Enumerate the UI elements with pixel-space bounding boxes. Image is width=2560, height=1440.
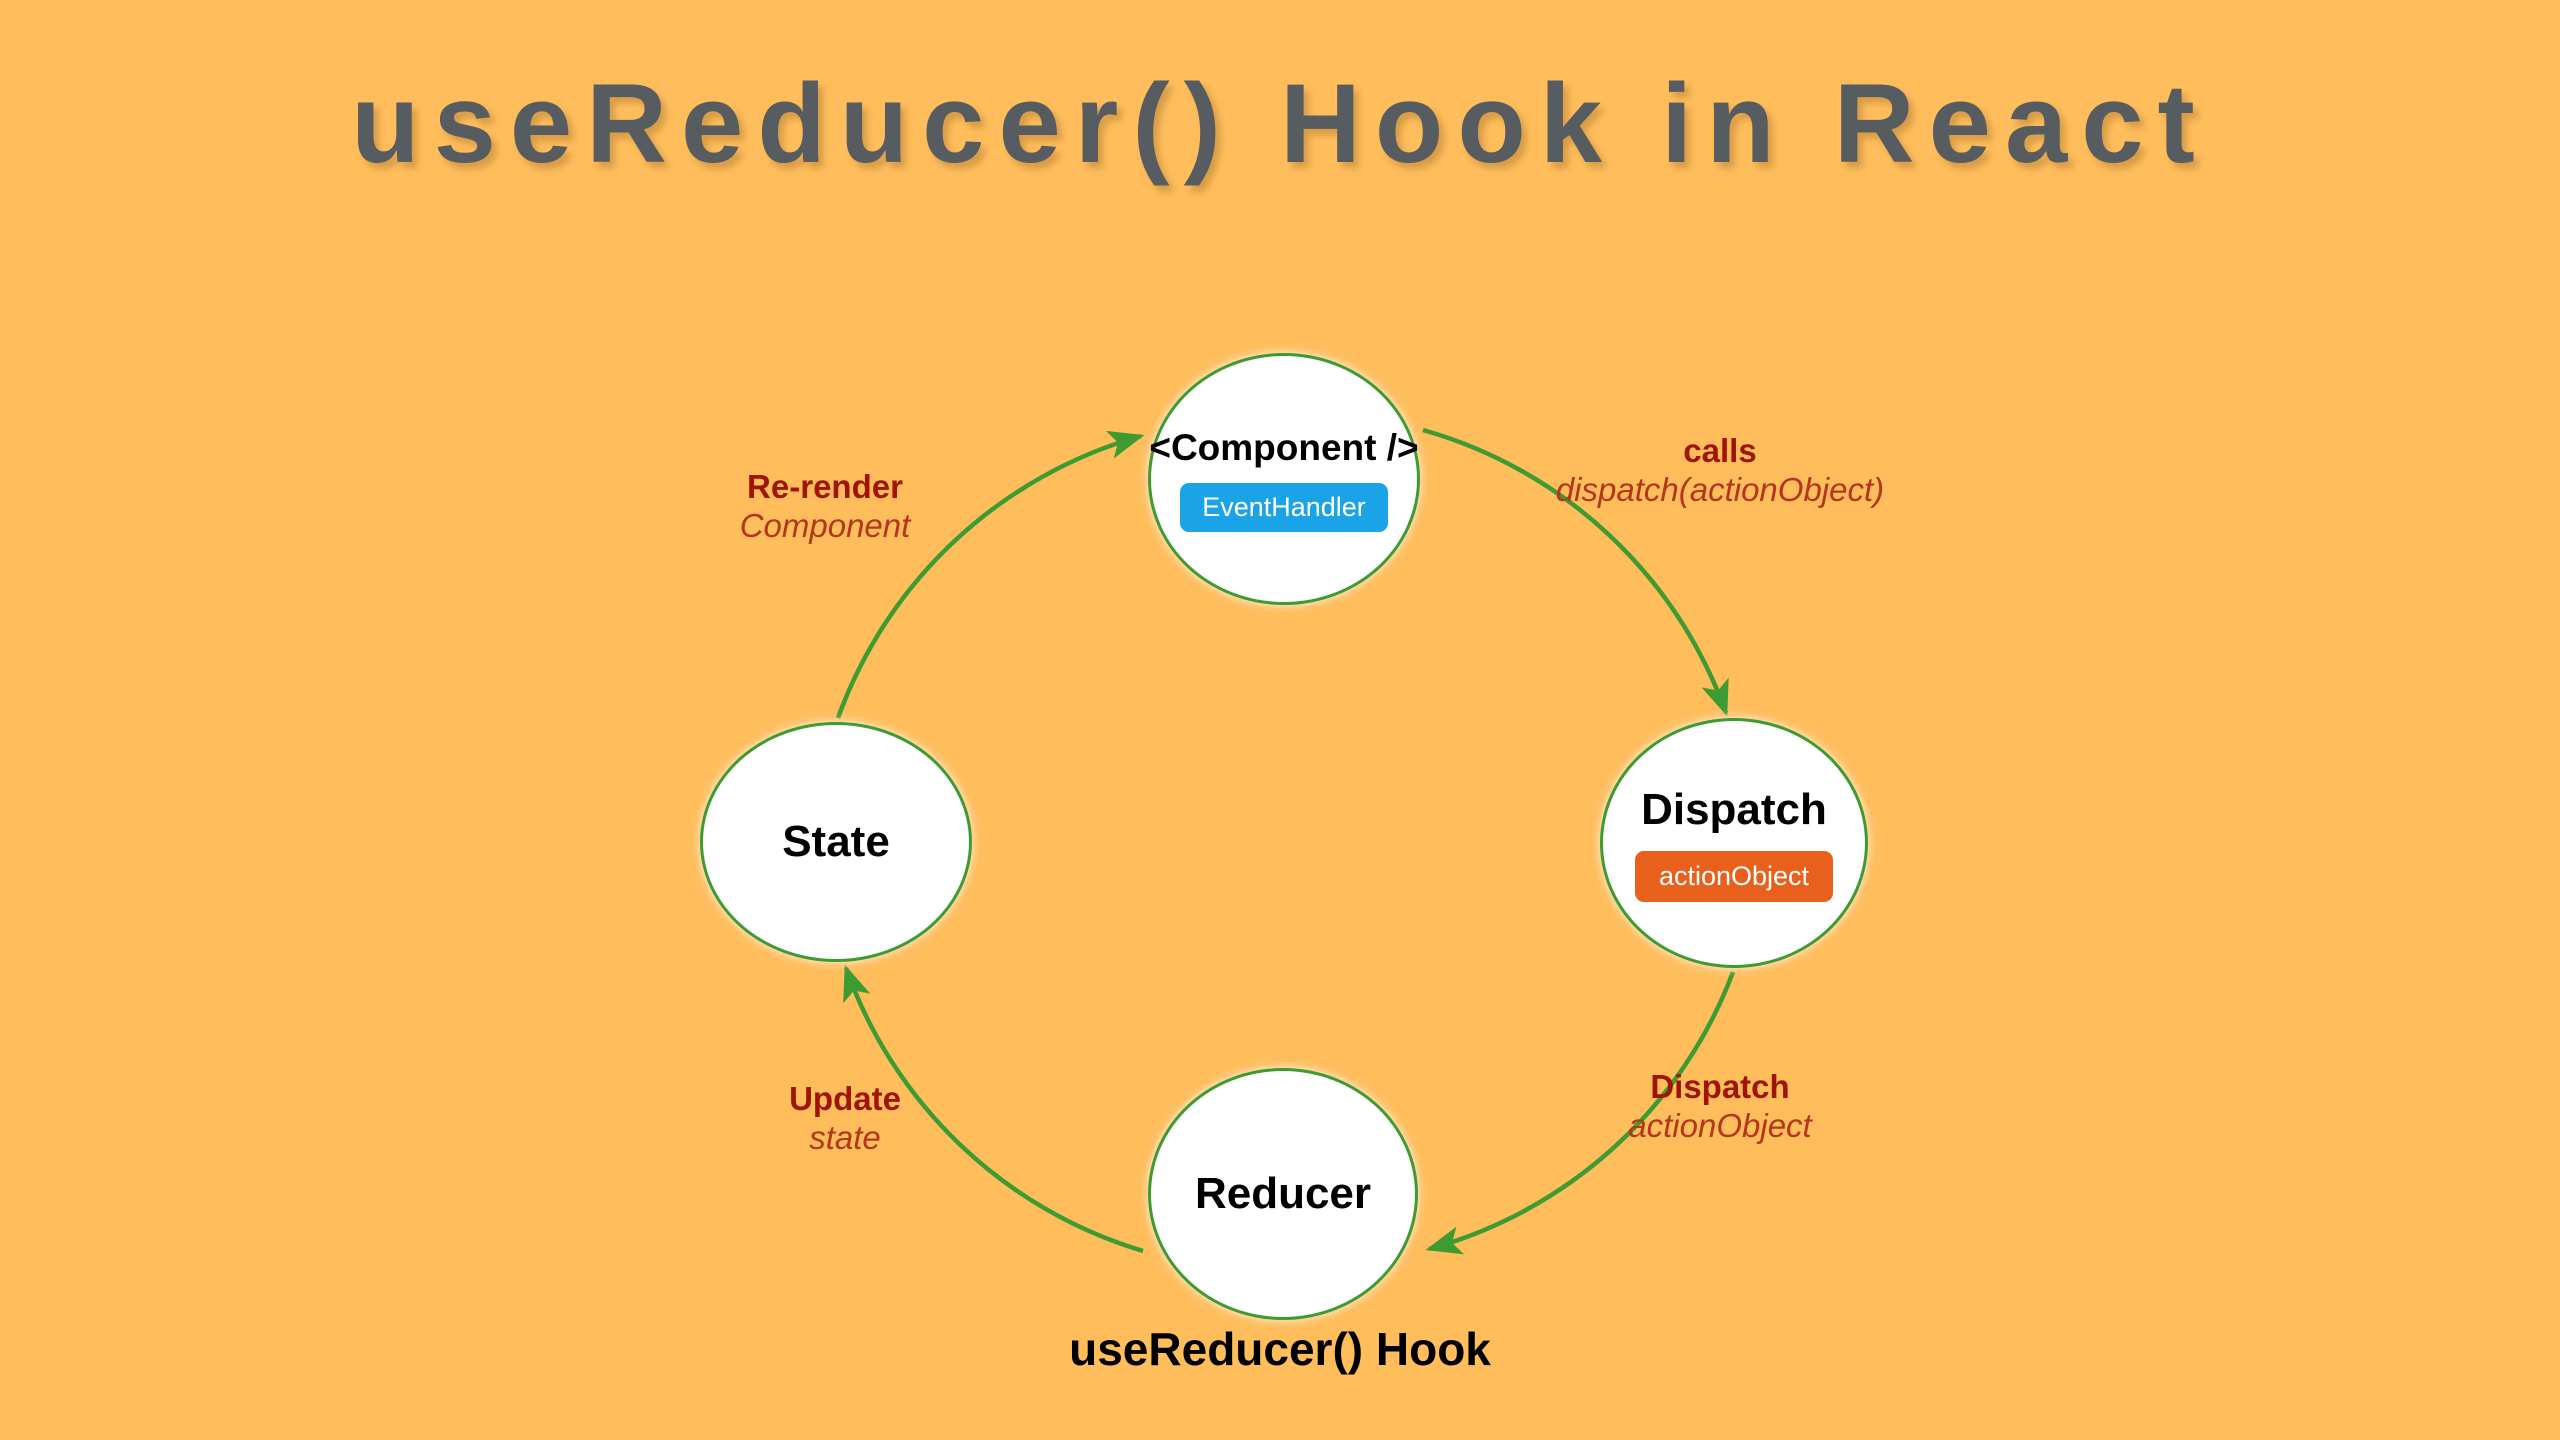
edge-label-dispatch-title: Dispatch [1560, 1068, 1880, 1107]
node-reducer[interactable]: Reducer [1148, 1068, 1418, 1320]
pill-action-object[interactable]: actionObject [1635, 851, 1833, 902]
edge-label-reducer-to-state: Update state [700, 1080, 990, 1158]
node-component-label: <Component /> [1149, 427, 1418, 469]
node-dispatch-label: Dispatch [1641, 785, 1827, 835]
node-component[interactable]: <Component /> EventHandler [1148, 353, 1420, 605]
edge-label-dispatch-detail: actionObject [1560, 1107, 1880, 1146]
edge-label-state-to-component: Re-render Component [660, 468, 990, 546]
node-reducer-label: Reducer [1195, 1169, 1371, 1219]
edge-label-component-to-dispatch: calls dispatch(actionObject) [1530, 432, 1910, 510]
diagram-canvas: useReducer() Hook in React <Component />… [0, 0, 2560, 1440]
node-dispatch[interactable]: Dispatch actionObject [1600, 718, 1868, 968]
edge-label-rerender-title: Re-render [660, 468, 990, 507]
edge-label-dispatch-to-reducer: Dispatch actionObject [1560, 1068, 1880, 1146]
edge-label-calls-title: calls [1530, 432, 1910, 471]
node-state[interactable]: State [700, 722, 972, 962]
edge-label-rerender-detail: Component [660, 507, 990, 546]
edge-label-calls-detail: dispatch(actionObject) [1530, 471, 1910, 510]
edge-label-update-detail: state [700, 1119, 990, 1158]
node-state-label: State [782, 817, 890, 867]
pill-event-handler[interactable]: EventHandler [1180, 483, 1388, 532]
edge-label-update-title: Update [700, 1080, 990, 1119]
diagram-caption: useReducer() Hook [0, 1322, 2560, 1376]
